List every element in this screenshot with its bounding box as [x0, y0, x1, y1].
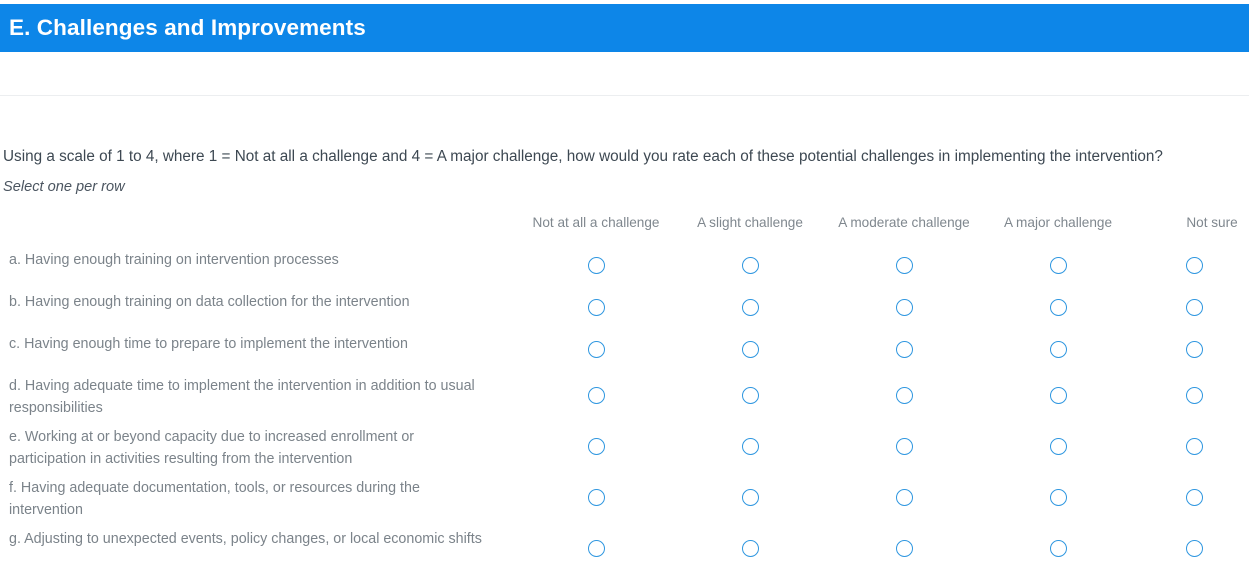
- radio-c-2[interactable]: [742, 341, 759, 358]
- radio-cell-c-4[interactable]: [981, 328, 1135, 370]
- radio-g-5[interactable]: [1186, 540, 1203, 557]
- section-header-banner: E. Challenges and Improvements: [0, 4, 1249, 52]
- radio-f-1[interactable]: [588, 489, 605, 506]
- row-label-g: g. Adjusting to unexpected events, polic…: [0, 523, 519, 574]
- radio-g-1[interactable]: [588, 540, 605, 557]
- radio-e-2[interactable]: [742, 438, 759, 455]
- radio-cell-b-2[interactable]: [673, 286, 827, 328]
- radio-cell-c-5[interactable]: [1135, 328, 1249, 370]
- radio-cell-b-5[interactable]: [1135, 286, 1249, 328]
- column-header-3: A moderate challenge: [827, 216, 981, 231]
- table-row: c. Having enough time to prepare to impl…: [0, 328, 1249, 370]
- radio-a-1[interactable]: [588, 257, 605, 274]
- radio-cell-f-5[interactable]: [1135, 472, 1249, 523]
- radio-cell-e-5[interactable]: [1135, 421, 1249, 472]
- radio-cell-d-5[interactable]: [1135, 370, 1249, 421]
- question-block: Using a scale of 1 to 4, where 1 = Not a…: [0, 147, 1249, 196]
- radio-cell-c-3[interactable]: [827, 328, 981, 370]
- table-row: a. Having enough training on interventio…: [0, 244, 1249, 286]
- radio-cell-c-1[interactable]: [519, 328, 673, 370]
- table-row: d. Having adequate time to implement the…: [0, 370, 1249, 421]
- radio-cell-b-1[interactable]: [519, 286, 673, 328]
- radio-d-3[interactable]: [896, 387, 913, 404]
- radio-e-4[interactable]: [1050, 438, 1067, 455]
- radio-cell-e-3[interactable]: [827, 421, 981, 472]
- table-row: f. Having adequate documentation, tools,…: [0, 472, 1249, 523]
- radio-cell-a-2[interactable]: [673, 244, 827, 286]
- section-title: E. Challenges and Improvements: [0, 17, 366, 40]
- radio-d-2[interactable]: [742, 387, 759, 404]
- radio-b-4[interactable]: [1050, 299, 1067, 316]
- radio-e-1[interactable]: [588, 438, 605, 455]
- matrix-header-row: Not at all a challenge A slight challeng…: [0, 216, 1249, 244]
- row-label-a: a. Having enough training on interventio…: [0, 244, 519, 286]
- radio-b-2[interactable]: [742, 299, 759, 316]
- table-row: b. Having enough training on data collec…: [0, 286, 1249, 328]
- radio-cell-e-2[interactable]: [673, 421, 827, 472]
- radio-a-2[interactable]: [742, 257, 759, 274]
- radio-cell-a-4[interactable]: [981, 244, 1135, 286]
- radio-cell-a-1[interactable]: [519, 244, 673, 286]
- radio-cell-d-1[interactable]: [519, 370, 673, 421]
- radio-c-1[interactable]: [588, 341, 605, 358]
- radio-cell-a-5[interactable]: [1135, 244, 1249, 286]
- column-header-5: Not sure: [1135, 216, 1249, 231]
- radio-g-3[interactable]: [896, 540, 913, 557]
- question-prompt: Using a scale of 1 to 4, where 1 = Not a…: [0, 147, 1249, 167]
- radio-cell-d-2[interactable]: [673, 370, 827, 421]
- matrix-question-grid: Not at all a challenge A slight challeng…: [0, 216, 1249, 574]
- radio-cell-g-1[interactable]: [519, 523, 673, 574]
- column-header-2: A slight challenge: [673, 216, 827, 231]
- radio-cell-f-2[interactable]: [673, 472, 827, 523]
- radio-d-1[interactable]: [588, 387, 605, 404]
- radio-a-4[interactable]: [1050, 257, 1067, 274]
- radio-f-2[interactable]: [742, 489, 759, 506]
- row-label-b: b. Having enough training on data collec…: [0, 286, 519, 328]
- radio-g-2[interactable]: [742, 540, 759, 557]
- radio-cell-e-4[interactable]: [981, 421, 1135, 472]
- radio-b-5[interactable]: [1186, 299, 1203, 316]
- radio-e-5[interactable]: [1186, 438, 1203, 455]
- row-label-c: c. Having enough time to prepare to impl…: [0, 328, 519, 370]
- radio-c-5[interactable]: [1186, 341, 1203, 358]
- radio-cell-e-1[interactable]: [519, 421, 673, 472]
- radio-a-3[interactable]: [896, 257, 913, 274]
- question-instruction: Select one per row: [0, 179, 1249, 197]
- radio-f-3[interactable]: [896, 489, 913, 506]
- radio-cell-g-3[interactable]: [827, 523, 981, 574]
- radio-cell-a-3[interactable]: [827, 244, 981, 286]
- radio-d-4[interactable]: [1050, 387, 1067, 404]
- radio-e-3[interactable]: [896, 438, 913, 455]
- radio-cell-g-5[interactable]: [1135, 523, 1249, 574]
- row-label-d: d. Having adequate time to implement the…: [0, 370, 519, 421]
- radio-b-1[interactable]: [588, 299, 605, 316]
- column-header-1: Not at all a challenge: [519, 216, 673, 231]
- row-label-e: e. Working at or beyond capacity due to …: [0, 421, 519, 472]
- radio-cell-d-4[interactable]: [981, 370, 1135, 421]
- header-divider: [0, 95, 1249, 96]
- radio-cell-c-2[interactable]: [673, 328, 827, 370]
- row-label-f: f. Having adequate documentation, tools,…: [0, 472, 519, 523]
- radio-g-4[interactable]: [1050, 540, 1067, 557]
- table-row: g. Adjusting to unexpected events, polic…: [0, 523, 1249, 574]
- radio-a-5[interactable]: [1186, 257, 1203, 274]
- survey-page: E. Challenges and Improvements Using a s…: [0, 0, 1249, 582]
- radio-c-4[interactable]: [1050, 341, 1067, 358]
- radio-cell-f-1[interactable]: [519, 472, 673, 523]
- radio-cell-d-3[interactable]: [827, 370, 981, 421]
- radio-cell-f-4[interactable]: [981, 472, 1135, 523]
- radio-c-3[interactable]: [896, 341, 913, 358]
- radio-b-3[interactable]: [896, 299, 913, 316]
- table-row: e. Working at or beyond capacity due to …: [0, 421, 1249, 472]
- radio-cell-g-4[interactable]: [981, 523, 1135, 574]
- radio-cell-f-3[interactable]: [827, 472, 981, 523]
- radio-cell-b-4[interactable]: [981, 286, 1135, 328]
- radio-d-5[interactable]: [1186, 387, 1203, 404]
- radio-f-5[interactable]: [1186, 489, 1203, 506]
- radio-f-4[interactable]: [1050, 489, 1067, 506]
- column-header-4: A major challenge: [981, 216, 1135, 231]
- radio-cell-g-2[interactable]: [673, 523, 827, 574]
- radio-cell-b-3[interactable]: [827, 286, 981, 328]
